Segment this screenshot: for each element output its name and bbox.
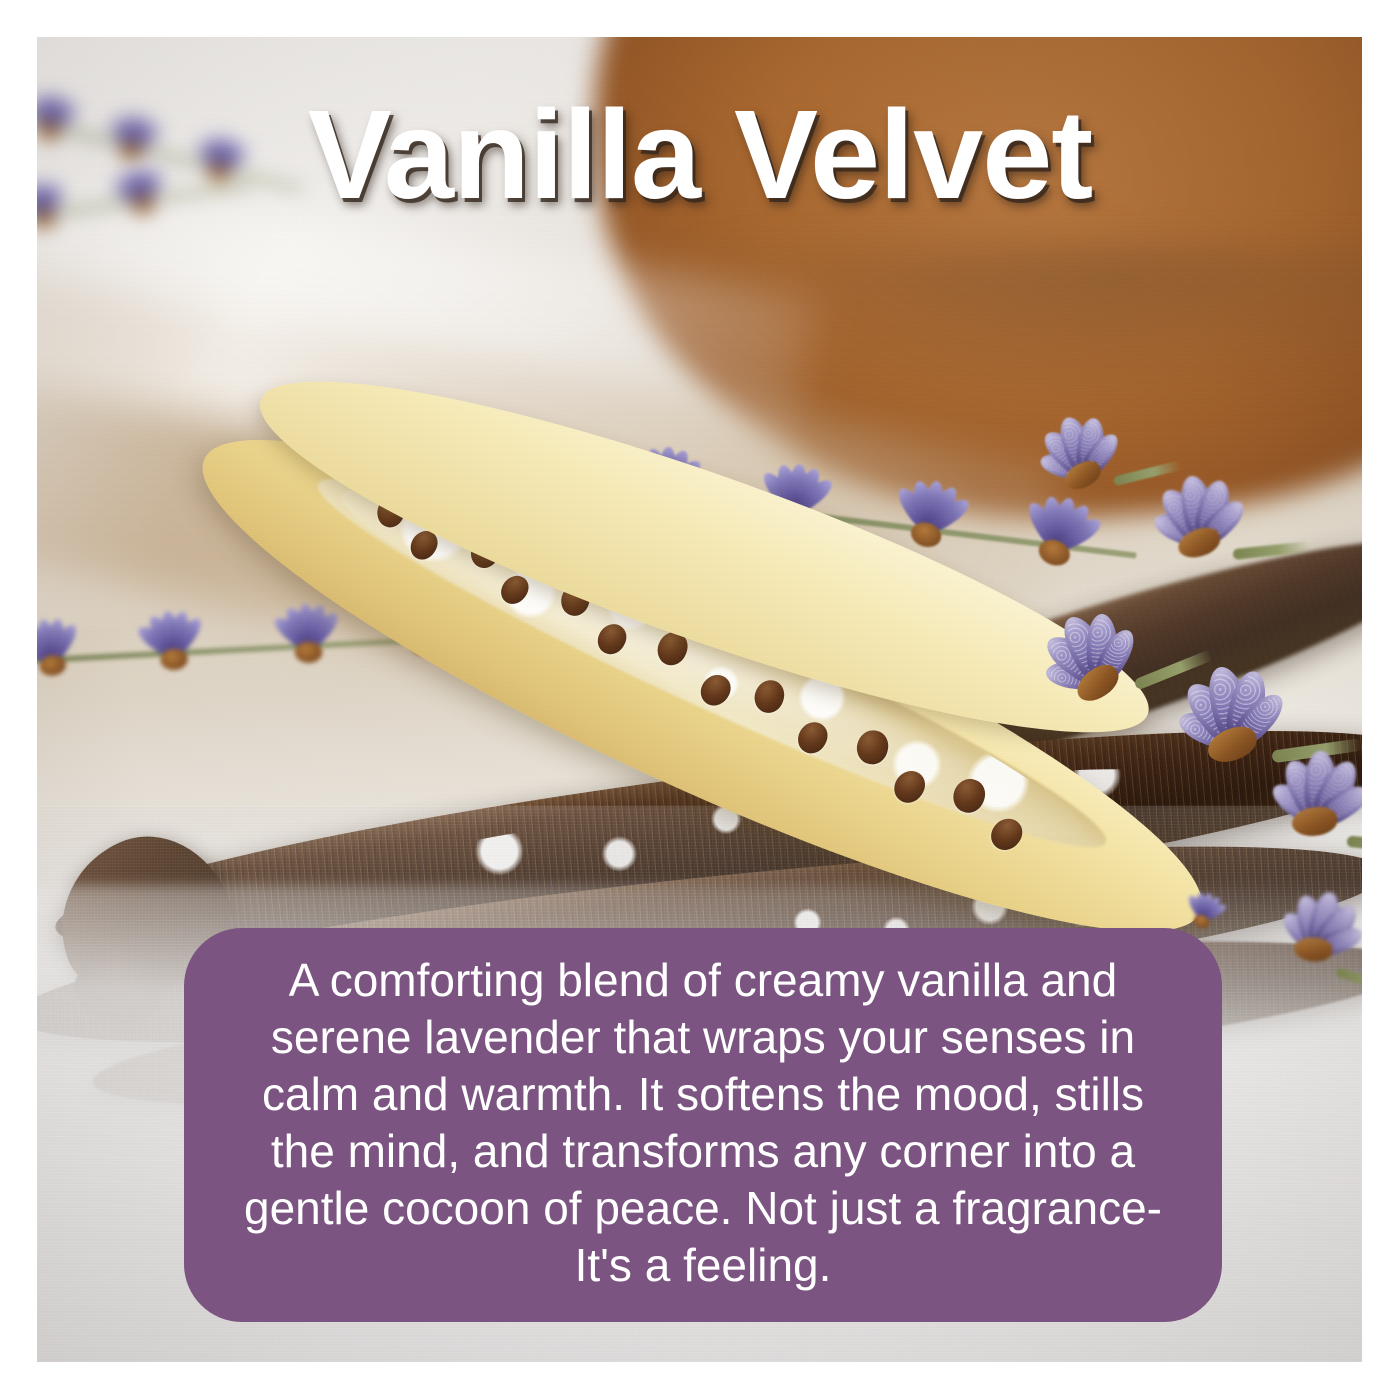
description-card: A comforting blend of creamy vanilla and… xyxy=(184,928,1222,1322)
product-card: Vanilla Velvet A comforting blend of cre… xyxy=(0,0,1400,1400)
lavender-floret xyxy=(37,618,91,703)
lavender-head xyxy=(1130,467,1275,587)
description-text: A comforting blend of creamy vanilla and… xyxy=(232,952,1174,1294)
lavender-head xyxy=(1246,742,1362,868)
page-title: Vanilla Velvet xyxy=(0,92,1400,218)
